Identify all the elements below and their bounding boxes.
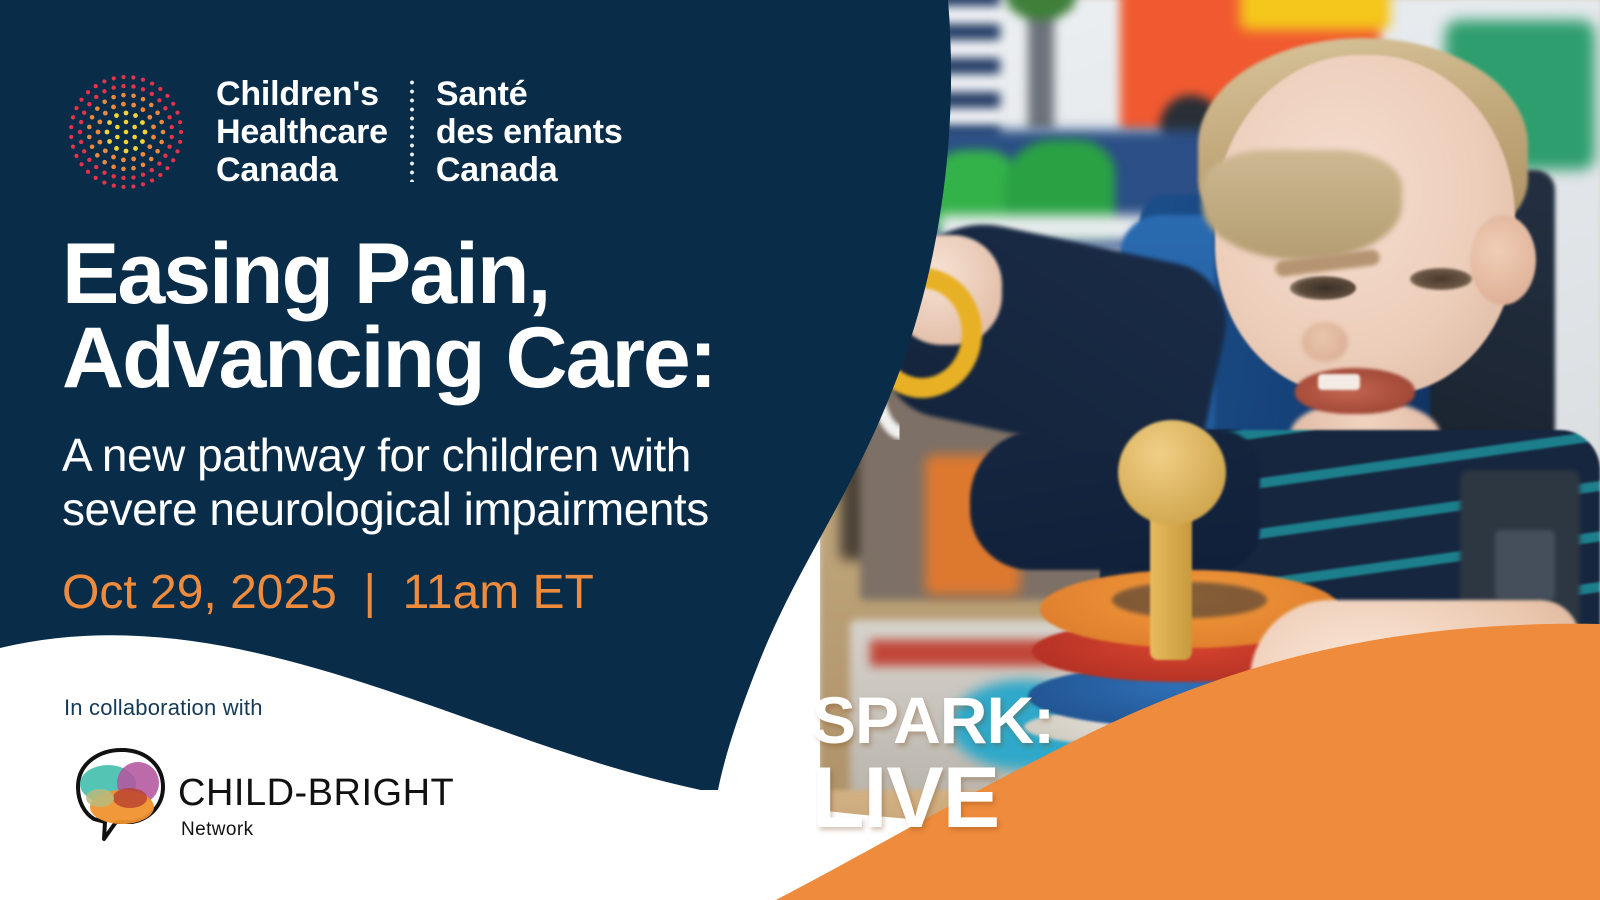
page-title: Easing Pain, Advancing Care: (62, 232, 715, 401)
page-subtitle: A new pathway for children with severe n… (62, 428, 709, 537)
brand-logo: Children's Healthcare Canada Santé des e… (62, 68, 623, 196)
logo-french: Santé des enfants Canada (436, 75, 623, 189)
collaboration-block: In collaboration with CHILD-BRIGHT Netwo… (64, 695, 454, 847)
spark-live-badge: SPARK: LIVE (812, 690, 1054, 838)
event-datetime: Oct 29, 2025 | 11am ET (62, 565, 594, 620)
child-bright-brain-speech-bubble-logo (64, 743, 172, 847)
badge-line-2: LIVE (812, 759, 1054, 838)
logo-english: Children's Healthcare Canada (216, 75, 388, 189)
partner-logo: CHILD-BRIGHT Network (64, 743, 454, 847)
partner-subtitle: Network (181, 819, 454, 841)
orange-accent-shape (520, 610, 1600, 900)
dotted-divider-icon (410, 78, 414, 182)
collaboration-label: In collaboration with (64, 695, 454, 721)
partner-name: CHILD-BRIGHT (178, 772, 454, 815)
promotional-poster: Children's Healthcare Canada Santé des e… (0, 0, 1600, 900)
children-healthcare-canada-dot-mark (62, 68, 190, 196)
logo-wordmark: Children's Healthcare Canada Santé des e… (216, 75, 623, 189)
partner-wordmark: CHILD-BRIGHT Network (178, 772, 454, 847)
badge-line-1: SPARK: (812, 690, 1054, 751)
